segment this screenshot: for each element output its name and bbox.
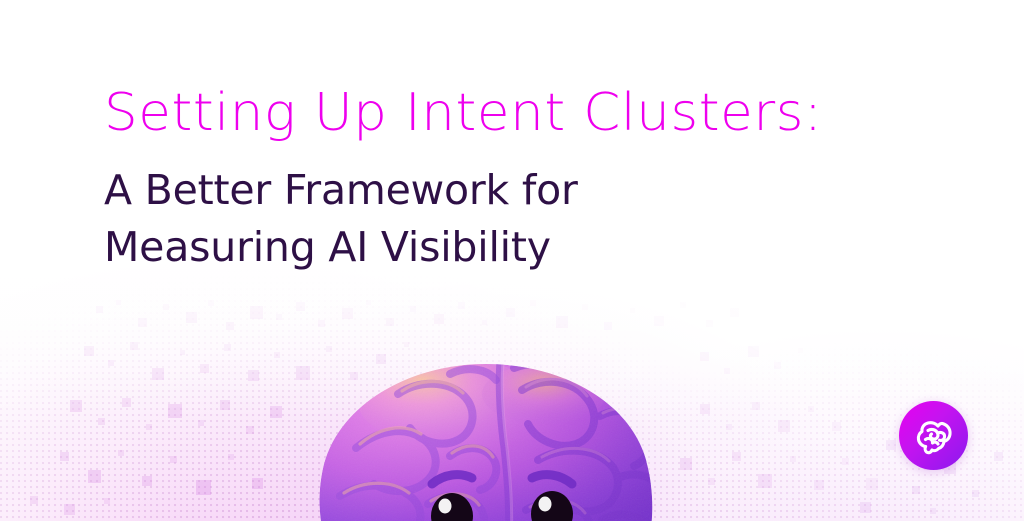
banner-canvas: Setting Up Intent Clusters: A Better Fra…	[0, 0, 1024, 521]
page-subtitle: A Better Framework for Measuring AI Visi…	[104, 162, 808, 275]
brain-eye-highlight-left	[439, 499, 452, 514]
page-subtitle-line-1: A Better Framework for	[104, 166, 578, 214]
brain-head	[300, 356, 672, 521]
brain-character-mascot	[300, 356, 672, 521]
brain-eye-highlight-right	[539, 497, 552, 512]
brain-icon	[912, 414, 956, 458]
logo-badge[interactable]	[899, 401, 968, 470]
page-subtitle-line-2: Measuring AI Visibility	[104, 219, 808, 276]
page-title: Setting Up Intent Clusters:	[104, 86, 823, 141]
headline-group: Setting Up Intent Clusters: A Better Fra…	[104, 86, 808, 275]
